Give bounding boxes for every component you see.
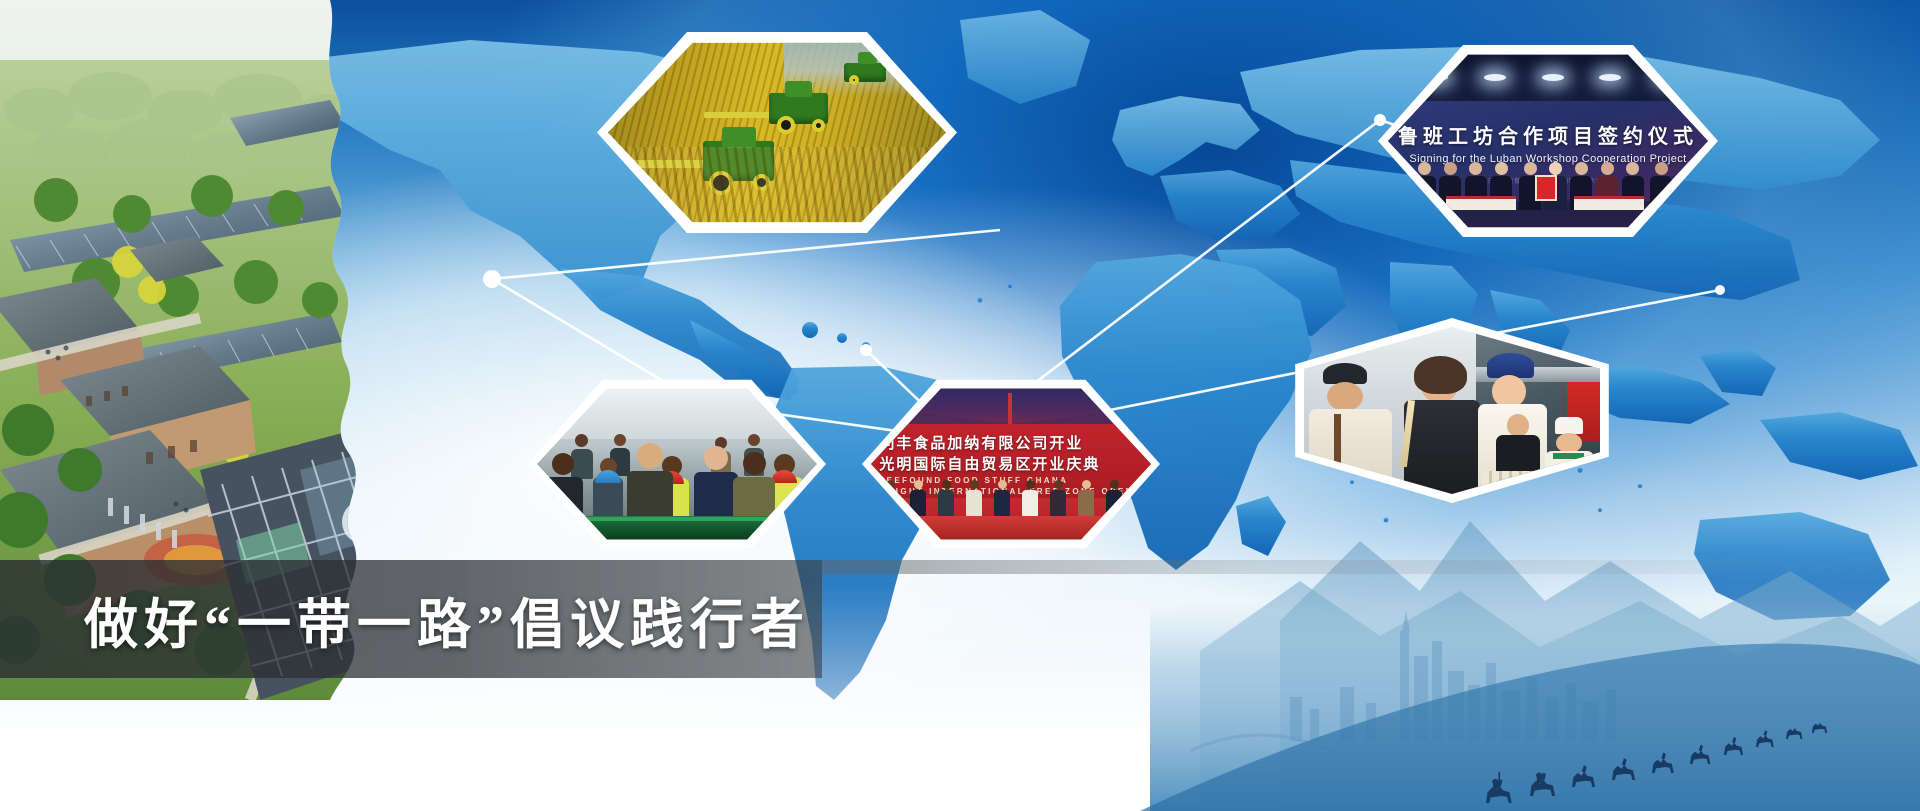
headline-overlay-strip [822, 560, 1920, 574]
leefound-title-cn-1: 利丰食品加纳有限公司开业 [879, 432, 1142, 453]
luban-title-cn: 鲁班工坊合作项目签约仪式 [1388, 120, 1708, 149]
leefound-title-cn-2: 光明国际自由贸易区开业庆典 [879, 453, 1142, 474]
banner-root: 鲁班工坊合作项目签约仪式 Signing for the Luban Works… [0, 0, 1920, 811]
page-title: 做好“一带一路”倡议践行者 [84, 560, 844, 678]
